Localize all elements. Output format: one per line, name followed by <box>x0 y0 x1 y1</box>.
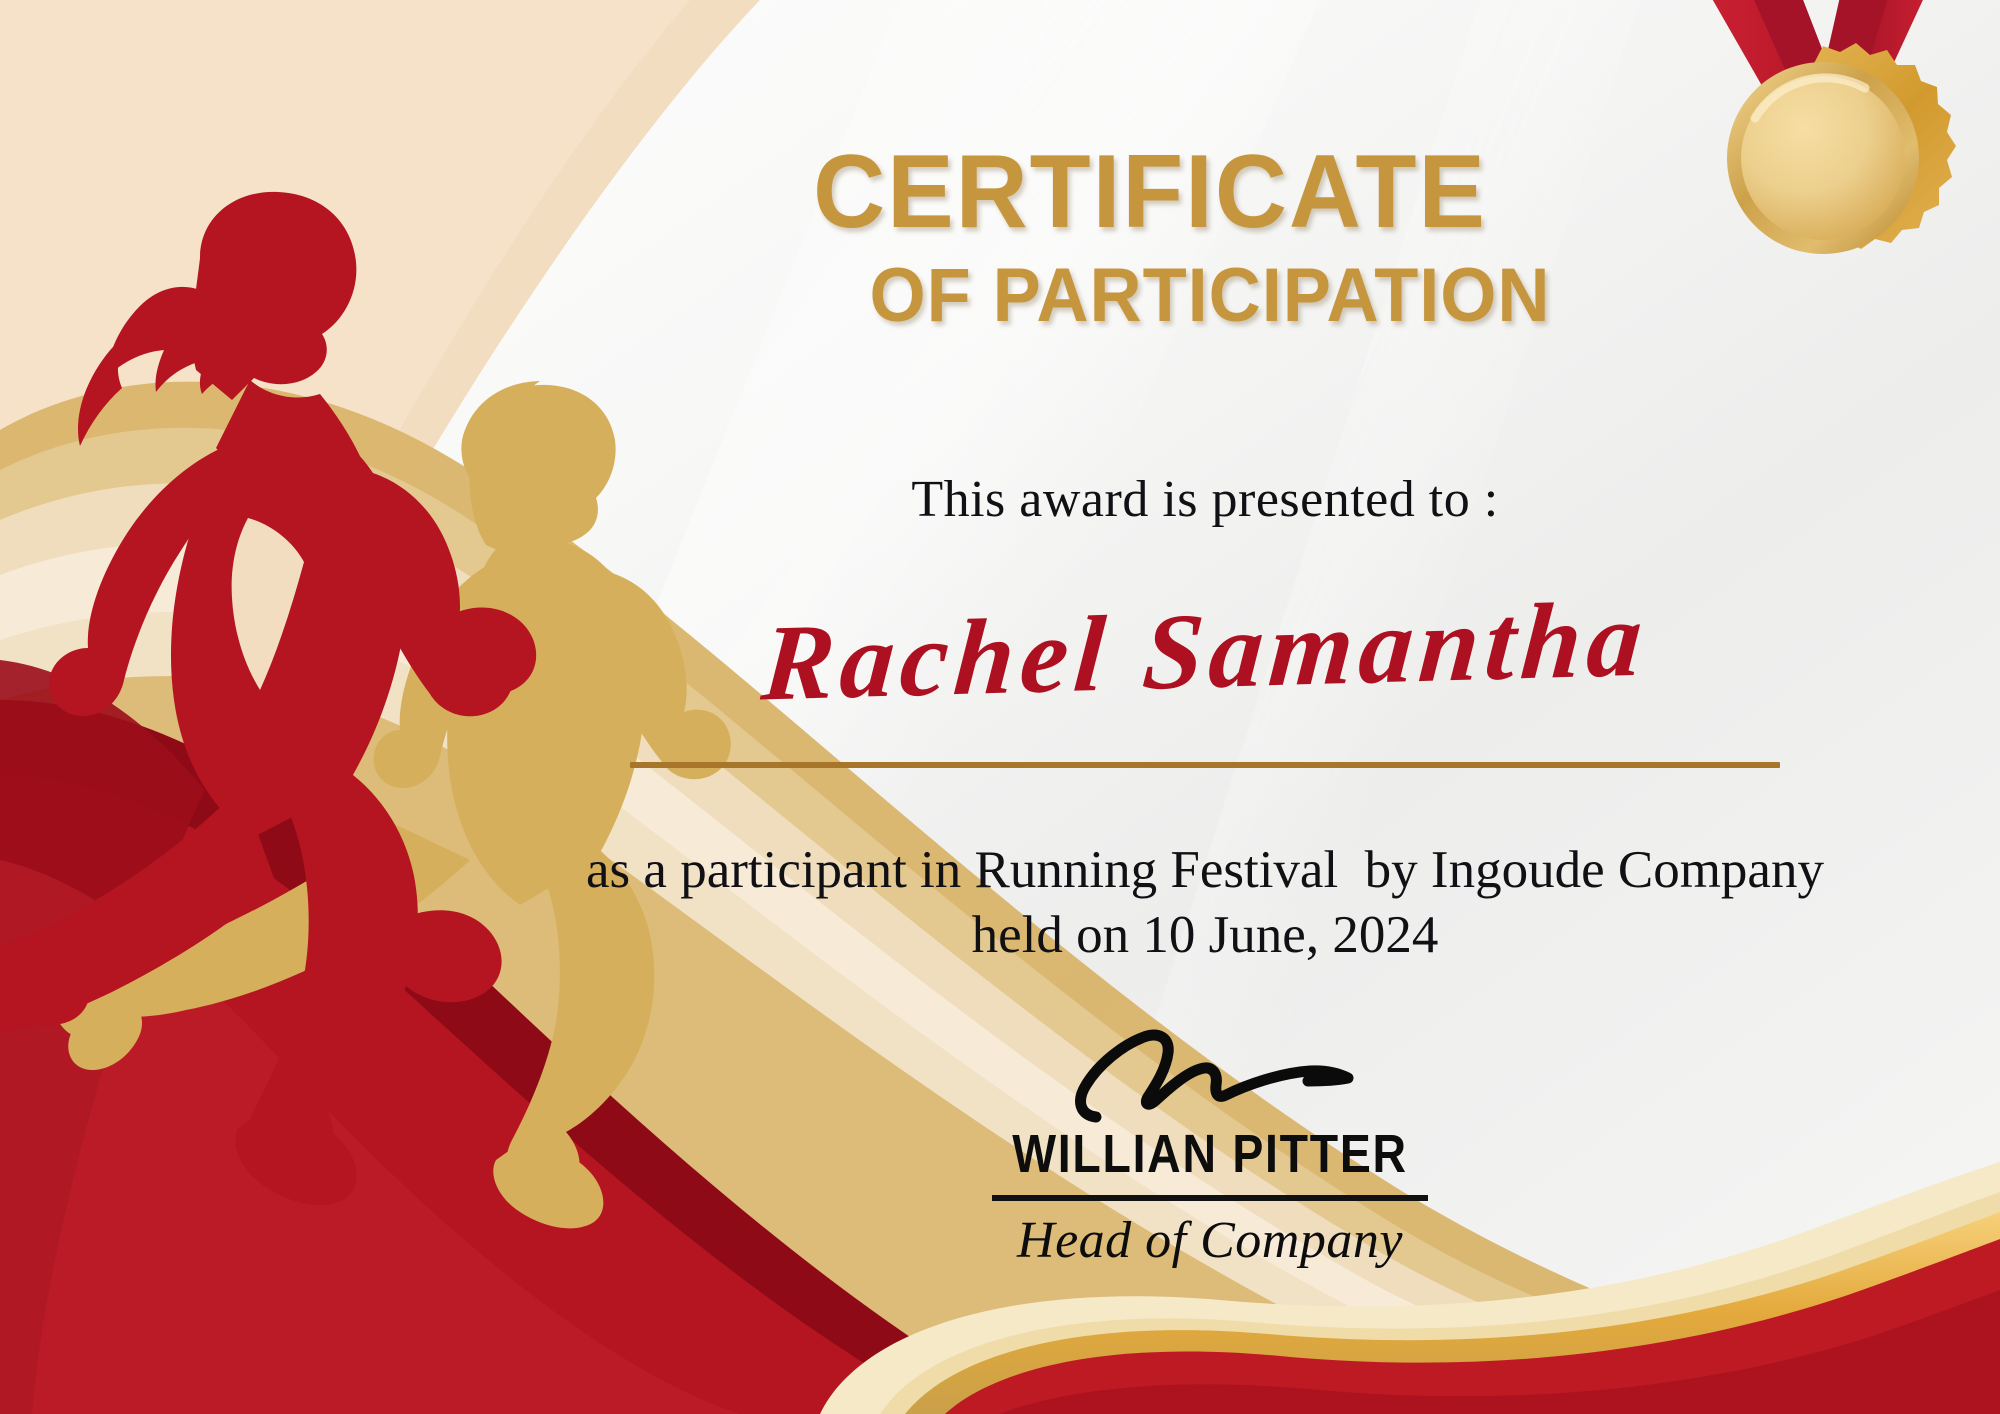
award-body-line-2: held on 10 June, 2024 <box>450 905 1960 965</box>
signer-name: WILLIAN PITTER <box>935 1123 1485 1185</box>
gold-medal-icon <box>1655 0 2000 278</box>
signer-rule <box>992 1195 1428 1201</box>
signature-block: WILLIAN PITTER Head of Company <box>890 1015 1530 1270</box>
page-title: CERTIFICATE <box>584 140 1717 244</box>
page-subtitle: OF PARTICIPATION <box>650 258 1771 334</box>
award-body-line-1: as a participant in Running Festival by … <box>450 840 1960 900</box>
signer-role: Head of Company <box>890 1211 1530 1270</box>
certificate-canvas: CERTIFICATE OF PARTICIPATION This award … <box>0 0 2000 1414</box>
presented-to-label: This award is presented to : <box>560 470 1850 529</box>
recipient-name-rule <box>630 762 1780 768</box>
handwritten-signature-icon <box>1060 1015 1360 1127</box>
